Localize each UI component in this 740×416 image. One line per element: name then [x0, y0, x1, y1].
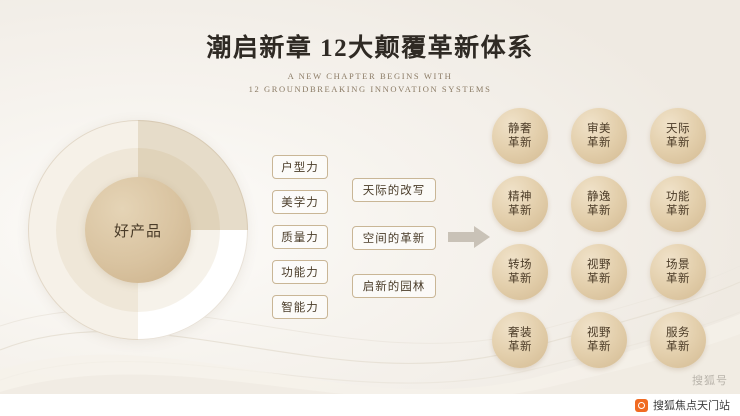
- bubble-line-1: 天际: [666, 122, 690, 136]
- bubble-line-1: 视野: [587, 326, 611, 340]
- donut-core-label: 好产品: [114, 220, 162, 241]
- capability-pill-0[interactable]: 户型力: [272, 155, 328, 179]
- page-title: 潮启新章 12大颠覆革新体系: [0, 34, 740, 64]
- capability-pill-4[interactable]: 智能力: [272, 295, 328, 319]
- capability-pill-label: 功能力: [281, 264, 319, 280]
- bubble-line-2: 革新: [587, 340, 611, 354]
- bubble-line-1: 功能: [666, 190, 690, 204]
- theme-pill-1[interactable]: 空间的革新: [352, 226, 436, 250]
- innovation-bubble-3-1[interactable]: 视野 革新: [571, 312, 627, 368]
- innovation-bubble-0-0[interactable]: 静奢 革新: [492, 108, 548, 164]
- theme-pill-label: 启新的园林: [363, 278, 426, 294]
- bubble-line-1: 奢装: [508, 326, 532, 340]
- bubble-line-1: 转场: [508, 258, 532, 272]
- bubble-line-1: 精神: [508, 190, 532, 204]
- bubble-line-2: 革新: [666, 340, 690, 354]
- bubble-line-1: 服务: [666, 326, 690, 340]
- theme-pill-label: 天际的改写: [363, 182, 426, 198]
- innovation-bubble-2-0[interactable]: 转场 革新: [492, 244, 548, 300]
- capability-pill-label: 质量力: [281, 229, 319, 245]
- capability-pill-label: 美学力: [281, 194, 319, 210]
- bubble-line-1: 场景: [666, 258, 690, 272]
- innovation-bubble-3-2[interactable]: 服务 革新: [650, 312, 706, 368]
- bubble-line-1: 审美: [587, 122, 611, 136]
- bubble-line-1: 静逸: [587, 190, 611, 204]
- bubble-line-1: 视野: [587, 258, 611, 272]
- innovation-bubble-2-2[interactable]: 场景 革新: [650, 244, 706, 300]
- bubble-line-2: 革新: [508, 136, 532, 150]
- capability-pill-2[interactable]: 质量力: [272, 225, 328, 249]
- innovation-bubble-1-0[interactable]: 精神 革新: [492, 176, 548, 232]
- capability-pill-1[interactable]: 美学力: [272, 190, 328, 214]
- capability-pill-label: 户型力: [281, 159, 319, 175]
- flow-arrow-icon: [448, 226, 490, 248]
- bubble-line-2: 革新: [508, 204, 532, 218]
- capability-pill-label: 智能力: [281, 299, 319, 315]
- sohu-logo-icon: [635, 399, 648, 412]
- bubble-line-2: 革新: [508, 272, 532, 286]
- innovation-bubble-1-2[interactable]: 功能 革新: [650, 176, 706, 232]
- bubble-line-2: 革新: [666, 272, 690, 286]
- watermark-label: 搜狐号: [692, 372, 728, 388]
- title-block: 潮启新章 12大颠覆革新体系 A NEW CHAPTER BEGINS WITH…: [0, 34, 740, 94]
- bubble-line-2: 革新: [666, 136, 690, 150]
- bubble-line-2: 革新: [587, 136, 611, 150]
- innovation-bubble-0-2[interactable]: 天际 革新: [650, 108, 706, 164]
- bubble-line-1: 静奢: [508, 122, 532, 136]
- theme-pill-2[interactable]: 启新的园林: [352, 274, 436, 298]
- subtitle-line-2: 12 GROUNDBREAKING INNOVATION SYSTEMS: [0, 84, 740, 94]
- bubble-line-2: 革新: [666, 204, 690, 218]
- bubble-line-2: 革新: [587, 204, 611, 218]
- bubble-line-2: 革新: [508, 340, 532, 354]
- capability-pill-3[interactable]: 功能力: [272, 260, 328, 284]
- product-donut-diagram: 好产品: [28, 120, 248, 340]
- innovation-bubble-0-1[interactable]: 审美 革新: [571, 108, 627, 164]
- footer-bar: 搜狐焦点天门站: [0, 394, 740, 416]
- innovation-grid: 静奢 革新 审美 革新 天际 革新 精神 革新 静逸 革新 功能 革新 转场 革…: [492, 108, 720, 366]
- donut-core: 好产品: [85, 177, 191, 283]
- slide-canvas: 潮启新章 12大颠覆革新体系 A NEW CHAPTER BEGINS WITH…: [0, 0, 740, 416]
- footer-brand-label: 搜狐焦点天门站: [653, 397, 730, 413]
- footer-brand[interactable]: 搜狐焦点天门站: [635, 397, 730, 413]
- innovation-bubble-2-1[interactable]: 视野 革新: [571, 244, 627, 300]
- theme-pill-label: 空间的革新: [363, 230, 426, 246]
- innovation-bubble-1-1[interactable]: 静逸 革新: [571, 176, 627, 232]
- subtitle-line-1: A NEW CHAPTER BEGINS WITH: [0, 71, 740, 81]
- theme-pill-0[interactable]: 天际的改写: [352, 178, 436, 202]
- innovation-bubble-3-0[interactable]: 奢装 革新: [492, 312, 548, 368]
- bubble-line-2: 革新: [587, 272, 611, 286]
